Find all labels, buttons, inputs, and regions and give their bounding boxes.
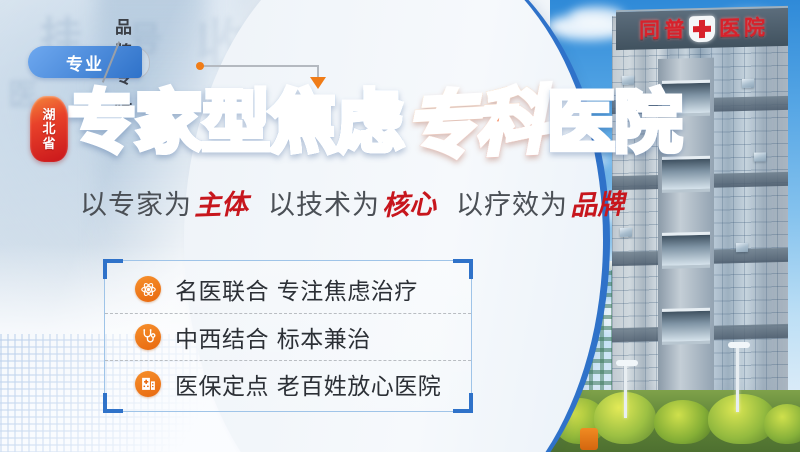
- slogan-group: 以疗效为 品牌: [456, 183, 624, 222]
- professional-tag: 专业: [28, 46, 142, 78]
- sign-char: 院: [744, 17, 765, 39]
- tower-window: [742, 79, 754, 88]
- sign-char: 医: [719, 18, 740, 40]
- tower-balcony: [662, 232, 710, 269]
- slogan-plain-text: 以专家为: [80, 183, 192, 222]
- sign-char: 同: [639, 20, 660, 42]
- slogan-group: 以专家为 主体: [80, 183, 248, 222]
- hospital-icon: [135, 371, 161, 397]
- tree: [654, 400, 712, 444]
- seal-char: 北: [42, 123, 55, 137]
- feature-text: 医保定点 老百姓放心医院: [175, 367, 441, 401]
- red-cross-icon: [689, 16, 715, 43]
- slogan-accent-text: 主体: [193, 182, 248, 223]
- seal-char: 省: [42, 138, 55, 152]
- tower-window: [736, 243, 748, 252]
- seal-char: 湖: [42, 109, 55, 123]
- rooftop-hospital-sign: 同 普 医 院: [616, 6, 788, 50]
- tower-window: [754, 152, 766, 161]
- atom-icon: [135, 276, 161, 302]
- professional-label: 专业: [66, 50, 104, 75]
- feature-list: 名医联合 专注焦虑治疗 中西结合 标本兼治: [105, 261, 471, 411]
- street-object: [580, 428, 598, 450]
- slogan-accent-text: 品牌: [569, 182, 624, 223]
- headline-segment-blue-1: 专家型焦虑: [68, 90, 403, 158]
- page-title: 专家型焦虑 专科 医院: [68, 88, 681, 160]
- sign-char: 普: [664, 19, 685, 41]
- street-lamp: [736, 346, 739, 412]
- slogan-plain-text: 以疗效为: [456, 183, 568, 222]
- headline-segment-red: 专科: [403, 84, 547, 163]
- feature-text: 中西结合 标本兼治: [175, 320, 371, 354]
- main-hospital-tower: [612, 12, 788, 408]
- feature-row: 医保定点 老百姓放心医院: [105, 360, 471, 407]
- feature-row: 中西结合 标本兼治: [105, 313, 471, 360]
- tower-window: [620, 228, 632, 237]
- slogan-accent-text: 核心: [381, 182, 436, 223]
- leader-line-horizontal: [203, 65, 319, 67]
- feature-text: 名医联合 专注焦虑治疗: [175, 272, 418, 306]
- street-lamp: [624, 364, 627, 418]
- feature-row: 名医联合 专注焦虑治疗: [105, 266, 471, 313]
- province-seal: 湖 北 省: [30, 96, 68, 162]
- feature-list-box: 名医联合 专注焦虑治疗 中西结合 标本兼治: [104, 260, 472, 412]
- stethoscope-icon: [135, 324, 161, 350]
- dot-icon: [196, 62, 204, 70]
- slogan-plain-text: 以技术为: [268, 183, 380, 222]
- slogan-group: 以技术为 核心: [268, 183, 436, 222]
- headline-segment-blue-2: 医院: [547, 90, 681, 158]
- hospital-promo-banner: 挂 号 收 费 处 咨 询 导 医: [0, 0, 800, 452]
- tower-balcony: [662, 308, 710, 345]
- tree: [764, 404, 800, 444]
- slogan-row: 以专家为 主体 以技术为 核心 以疗效为 品牌: [80, 183, 624, 222]
